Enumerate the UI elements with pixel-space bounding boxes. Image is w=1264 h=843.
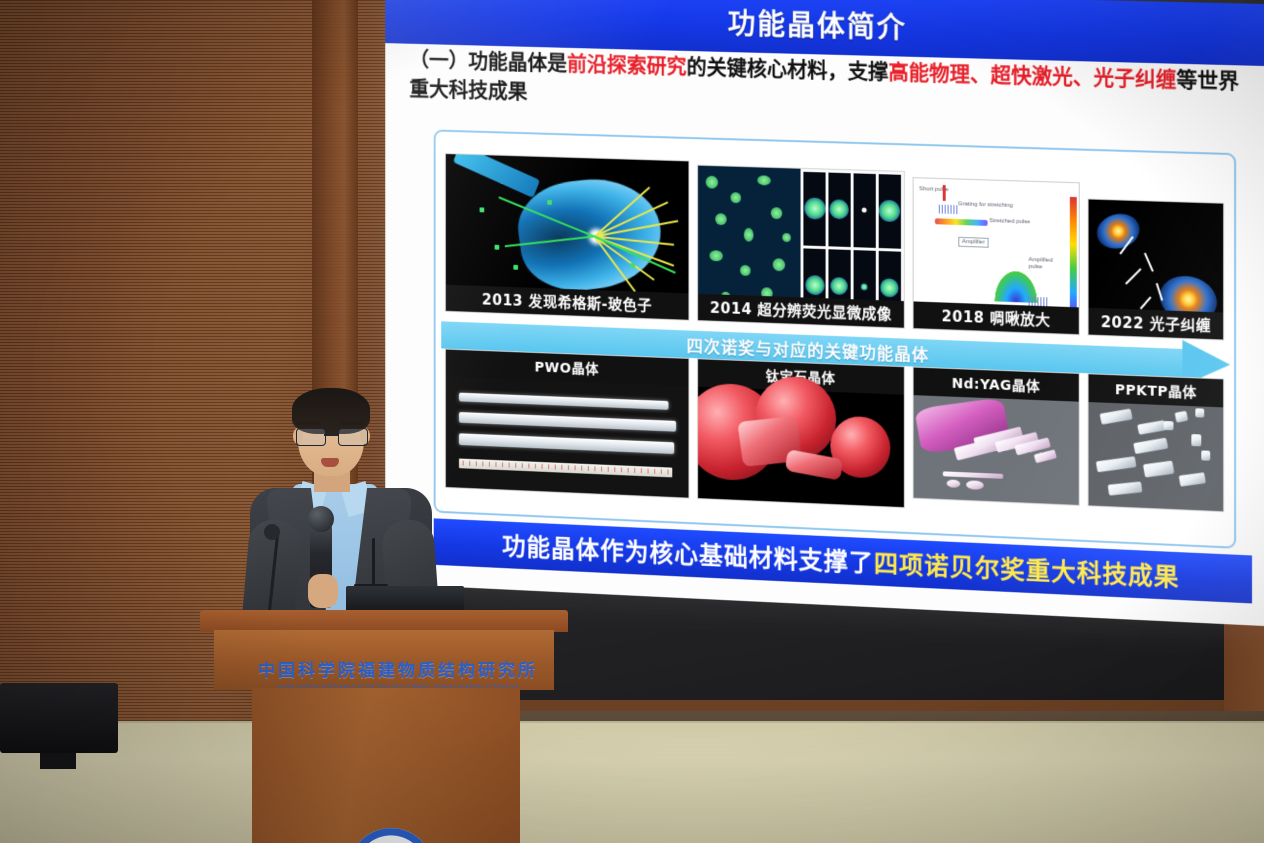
- bottom-banner-yellow-text: 四项诺贝尔奖重大科技成果: [874, 544, 1180, 594]
- lectern-front-panel: 中国科学院福建物质结构研究所 Fujian Institute of Resea…: [214, 630, 554, 690]
- lectern-top: [200, 610, 568, 632]
- picture-pwo-crystal: PWO晶体: [445, 349, 690, 499]
- hit-marker: [630, 263, 635, 268]
- lecture-hall-scene: 功能晶体简介 （一）功能晶体是前沿探索研究的关键核心材料，支撑高能物理、超快激光…: [0, 0, 1264, 843]
- lens-right: [338, 428, 368, 446]
- laptop: [346, 586, 464, 612]
- eyeglasses: [294, 428, 368, 444]
- picture-caption: 2018 啁啾放大: [913, 301, 1079, 334]
- nobel-picture-row: 2013 发现希格斯-玻色子: [445, 139, 1224, 340]
- hand: [308, 574, 338, 608]
- slide-content-box: 2013 发现希格斯-玻色子: [434, 129, 1236, 548]
- beam-icon: [453, 153, 540, 198]
- subhead-mid-1: 的关键核心材料，支撑: [687, 55, 889, 84]
- microphone-head: [308, 506, 334, 532]
- picture-caption: Nd:YAG晶体: [913, 368, 1079, 402]
- projection-screen: 功能晶体简介 （一）功能晶体是前沿探索研究的关键核心材料，支撑高能物理、超快激光…: [385, 0, 1264, 626]
- glasses-bridge: [324, 434, 338, 436]
- subhead-highlight-3: 纠缠: [1135, 67, 1177, 92]
- lectern-nameplate: 中国科学院福建物质结构研究所 Fujian Institute of Resea…: [242, 656, 554, 690]
- institute-name-chinese: 中国科学院福建物质结构研究所: [242, 656, 554, 681]
- subhead-highlight-2: 高能物理、超快激光、光子: [888, 60, 1135, 90]
- hit-marker: [495, 245, 500, 250]
- mouth: [321, 458, 339, 467]
- hit-marker: [480, 207, 485, 212]
- eyebrow-left: [296, 421, 320, 425]
- picture-caption: 2013 发现希格斯-玻色子: [446, 285, 689, 320]
- picture-chirped-pulse-amplification: Short pulse Grating for stretching Stret…: [912, 177, 1080, 335]
- entangled-photon-a: [1093, 209, 1145, 254]
- spectrum-bar: [1070, 197, 1077, 316]
- picture-caption: PPKTP晶体: [1089, 374, 1223, 407]
- picture-nd-yag-crystal: Nd:YAG晶体: [912, 366, 1080, 505]
- lectern-body: [252, 688, 520, 843]
- stage-monitor: [0, 683, 118, 753]
- subhead-highlight-1: 前沿探索研究: [567, 52, 687, 79]
- lens-left: [296, 428, 326, 446]
- gooseneck-microphone-head: [264, 524, 280, 540]
- cpa-label-stretched-pulse: Stretched pulse: [989, 218, 1030, 226]
- presentation-slide: 功能晶体简介 （一）功能晶体是前沿探索研究的关键核心材料，支撑高能物理、超快激光…: [385, 0, 1264, 626]
- subhead-prefix: （一）功能晶体是: [409, 48, 567, 75]
- floor: [0, 723, 1264, 843]
- cpa-label-grating-stretch: Grating for stretching: [958, 201, 1013, 210]
- cas-emblem: [348, 828, 434, 843]
- picture-photon-entanglement: 2022 光子纠缠: [1088, 198, 1224, 340]
- crystal-picture-row: PWO晶体 钛宝石晶体 N: [445, 349, 1224, 531]
- eyebrow-right: [342, 421, 366, 425]
- picture-higgs-boson-collision: 2013 发现希格斯-玻色子: [445, 153, 690, 321]
- hit-marker: [513, 265, 518, 270]
- lectern: 中国科学院福建物质结构研究所 Fujian Institute of Resea…: [200, 610, 568, 843]
- cpa-label-amplified-pulse: Amplified pulse: [1028, 257, 1067, 272]
- slide-title: 功能晶体简介: [728, 1, 907, 47]
- picture-caption: 2022 光子纠缠: [1089, 308, 1223, 340]
- bottom-banner-white-text: 功能晶体作为核心基础材料支撑了: [502, 527, 874, 579]
- picture-ti-sapphire-crystal: 钛宝石晶体: [697, 358, 904, 508]
- picture-ppktp-crystal: PPKTP晶体: [1088, 373, 1224, 512]
- sr-row-a: [803, 172, 900, 248]
- picture-super-resolution-microscopy: 2014 超分辨荧光显微成像: [697, 165, 904, 329]
- hit-marker: [547, 200, 552, 205]
